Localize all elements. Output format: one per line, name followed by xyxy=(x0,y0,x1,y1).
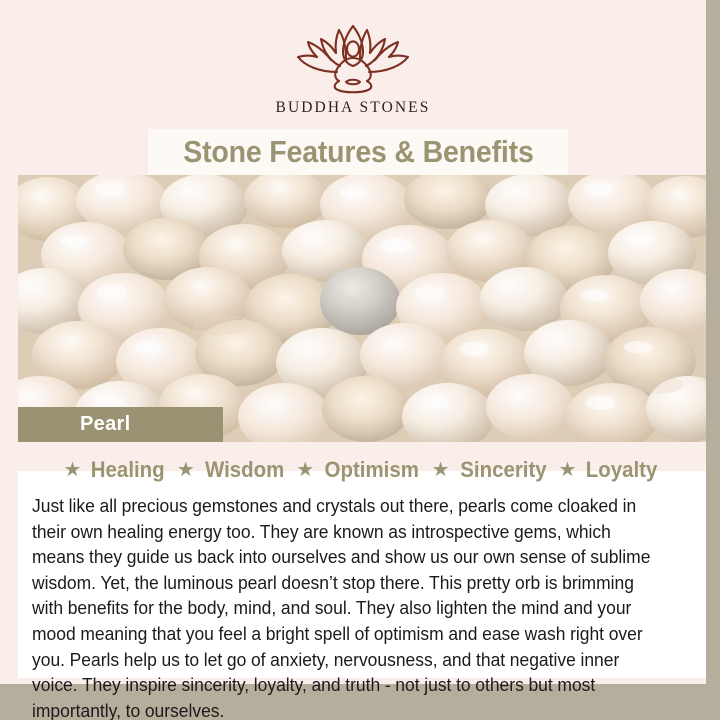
title-band: Stone Features & Benefits xyxy=(148,129,568,175)
infographic-page: BUDDHA STONES Stone Features & Benefits xyxy=(0,0,720,720)
benefit-item-wisdom: ★ Wisdom xyxy=(177,457,287,483)
header: BUDDHA STONES Stone Features & Benefits xyxy=(0,0,706,175)
benefit-item-healing: ★ Healing xyxy=(64,457,168,483)
benefits-list: ★ Healing ★ Wisdom ★ Optimism ★ Sincerit… xyxy=(18,457,706,483)
star-icon: ★ xyxy=(177,460,195,480)
brand-logo: BUDDHA STONES xyxy=(0,16,706,117)
benefit-item-optimism: ★ Optimism xyxy=(296,457,422,483)
stone-name: Pearl xyxy=(80,413,130,436)
benefit-label: Sincerity xyxy=(460,457,546,483)
star-icon: ★ xyxy=(432,460,450,480)
photo-caption-bar: Pearl xyxy=(18,407,223,442)
star-icon: ★ xyxy=(559,460,577,480)
benefit-label: Loyalty xyxy=(586,457,658,483)
description-card: ★ Healing ★ Wisdom ★ Optimism ★ Sincerit… xyxy=(18,449,706,678)
pearl-photo xyxy=(18,175,706,442)
benefit-label: Wisdom xyxy=(205,457,284,483)
description-paragraph: Just like all precious gemstones and cry… xyxy=(32,493,662,720)
benefit-item-sincerity: ★ Sincerity xyxy=(432,457,550,483)
lotus-meditating-figure-icon xyxy=(278,16,428,96)
page-title: Stone Features & Benefits xyxy=(183,134,533,170)
benefit-label: Healing xyxy=(91,457,165,483)
star-icon: ★ xyxy=(296,460,314,480)
pearl-photo-graphic xyxy=(18,175,706,442)
content-sheet: BUDDHA STONES Stone Features & Benefits xyxy=(0,0,706,684)
brand-wordmark: BUDDHA STONES xyxy=(276,99,431,117)
benefit-item-loyalty: ★ Loyalty xyxy=(559,457,661,483)
benefit-label: Optimism xyxy=(325,457,419,483)
star-icon: ★ xyxy=(64,460,82,480)
